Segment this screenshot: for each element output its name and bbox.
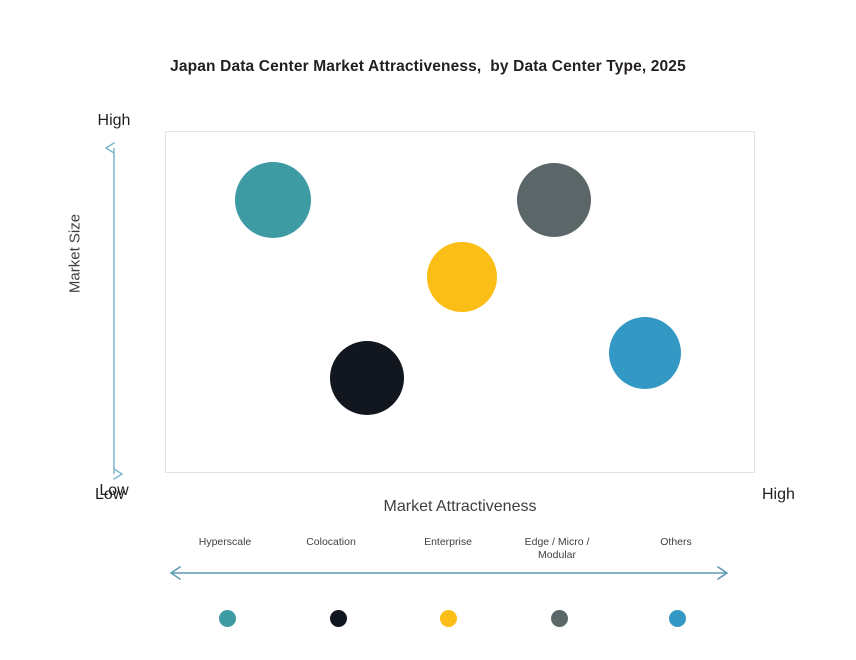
legend-swatch-hyperscale[interactable]: [219, 610, 236, 627]
legend-swatches: [168, 606, 728, 632]
bubble-colocation[interactable]: [330, 341, 404, 415]
x-axis-title: Market Attractiveness: [165, 498, 755, 516]
y-axis-arrow-icon: [102, 142, 126, 480]
legend-swatch-enterprise[interactable]: [440, 610, 457, 627]
legend-swatch-edge-micro-modular[interactable]: [551, 610, 568, 627]
legend-label-hyperscale: Hyperscale: [165, 536, 285, 549]
legend-label-others: Others: [616, 536, 736, 549]
bubble-hyperscale[interactable]: [235, 162, 311, 238]
bubble-edge-micro-modular[interactable]: [517, 163, 591, 237]
legend-swatch-colocation[interactable]: [330, 610, 347, 627]
legend-label-enterprise: Enterprise: [388, 536, 508, 549]
y-axis-high-label: High: [78, 112, 150, 130]
x-axis-low-label: Low: [95, 486, 124, 504]
bubble-enterprise[interactable]: [427, 242, 497, 312]
chart-root: Japan Data Center Market Attractiveness,…: [0, 0, 856, 660]
x-axis-high-label: High: [762, 486, 795, 504]
legend-label-edge-micro-modular: Edge / Micro /Modular: [497, 536, 617, 561]
legend-swatch-others[interactable]: [669, 610, 686, 627]
legend-label-colocation: Colocation: [271, 536, 391, 549]
chart-title: Japan Data Center Market Attractiveness,…: [0, 58, 856, 76]
bubble-others[interactable]: [609, 317, 681, 389]
legend-axis-arrow-icon: [162, 560, 737, 586]
y-axis-title: Market Size: [67, 174, 84, 334]
